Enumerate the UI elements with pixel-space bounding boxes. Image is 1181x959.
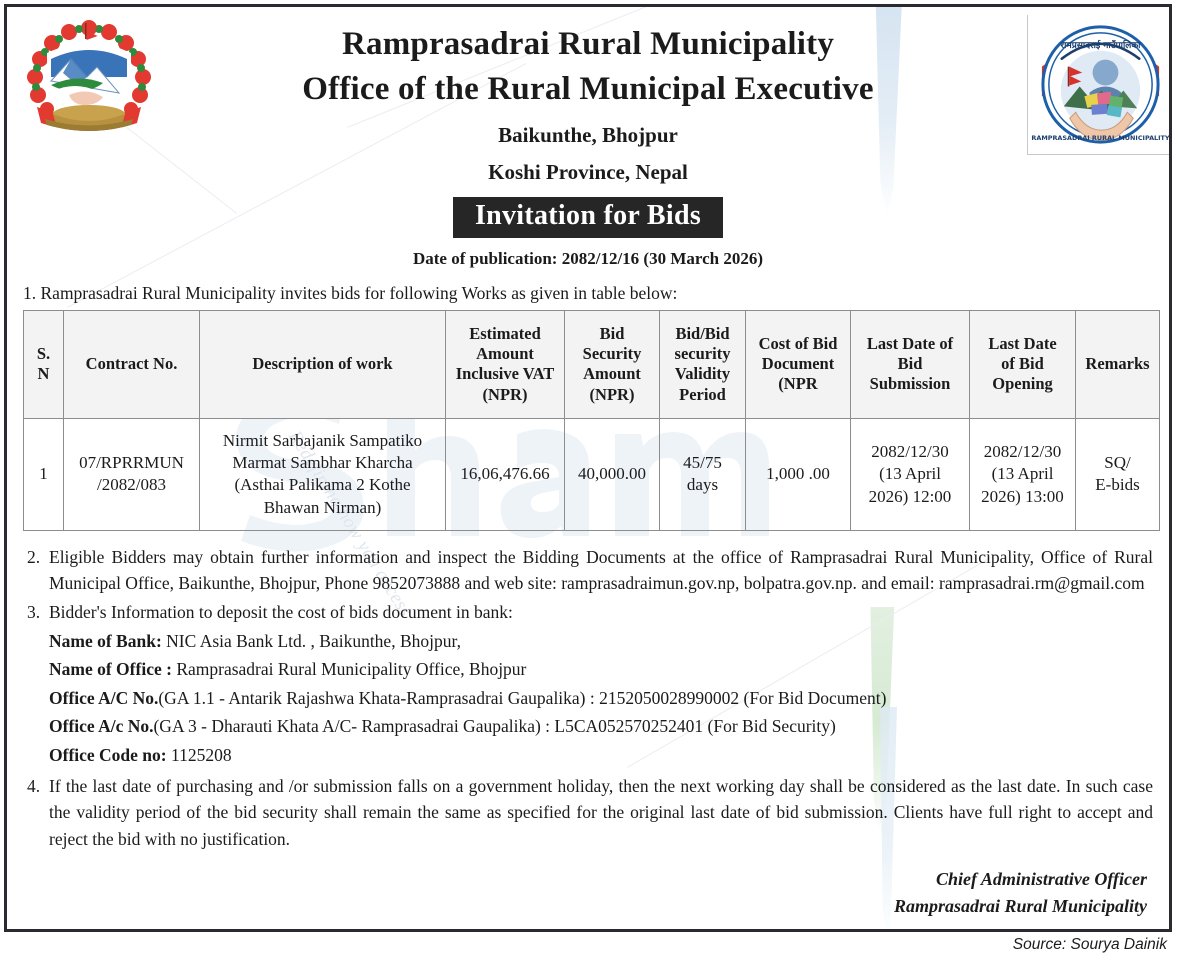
clause-3: 3. Bidder's Information to deposit the c… xyxy=(23,599,1153,769)
clause-2: 2. Eligible Bidders may obtain further i… xyxy=(23,544,1153,597)
cell-last-date-opening: 2082/12/30 (13 April 2026) 13:00 xyxy=(970,418,1076,530)
header-line: Estimated xyxy=(449,324,561,344)
cell-line: 2026) 12:00 xyxy=(855,486,965,508)
clause-4-number: 4. xyxy=(23,773,49,853)
account-1-line: Office A/C No.(GA 1.1 - Antarik Rajashwa… xyxy=(49,685,1153,712)
cell-line: 45/75 xyxy=(664,452,741,474)
cell-line: (Asthai Palikama 2 Kothe xyxy=(204,474,441,496)
svg-text:रामप्रसादराई गाउँपालिका: रामप्रसादराई गाउँपालिका xyxy=(1059,39,1141,51)
header-line: Amount xyxy=(449,344,561,364)
header-line: Bid xyxy=(854,354,966,374)
cell-line: Nirmit Sarbajanik Sampatiko xyxy=(204,430,441,452)
header-line: (NPR) xyxy=(449,385,561,405)
account-1-label: Office A/C No. xyxy=(49,688,158,708)
column-header-description: Description of work xyxy=(200,310,446,418)
cell-cost-of-bid-document: 1,000 .00 xyxy=(746,418,851,530)
office-title: Office of the Rural Municipal Executive xyxy=(7,70,1169,109)
office-code-value: 1125208 xyxy=(167,745,232,765)
nepal-emblem-icon xyxy=(23,19,155,147)
cell-line: 07/RPRRMUN xyxy=(68,452,195,474)
column-header-last-date-submission: Last Date of Bid Submission xyxy=(851,310,970,418)
column-header-remarks: Remarks xyxy=(1076,310,1160,418)
bank-name-line: Name of Bank: NIC Asia Bank Ltd. , Baiku… xyxy=(49,628,1153,655)
office-name-line: Name of Office : Ramprasadrai Rural Muni… xyxy=(49,656,1153,683)
table-header: S. N Contract No. Description of work Es… xyxy=(24,310,1160,418)
clause-3-text: Bidder's Information to deposit the cost… xyxy=(49,599,1153,626)
cell-line: E-bids xyxy=(1080,474,1155,496)
header-line: Cost of Bid xyxy=(749,334,847,354)
clauses-section: 2. Eligible Bidders may obtain further i… xyxy=(23,544,1153,853)
cell-remarks: SQ/ E-bids xyxy=(1076,418,1160,530)
header-line: Bid xyxy=(568,324,656,344)
signatory-organization: Ramprasadrai Rural Municipality xyxy=(7,893,1147,920)
cell-description: Nirmit Sarbajanik Sampatiko Marmat Sambh… xyxy=(200,418,446,530)
column-header-cost-of-bid-document: Cost of Bid Document (NPR xyxy=(746,310,851,418)
cell-line: /2082/083 xyxy=(68,474,195,496)
banner-wrapper: Invitation for Bids xyxy=(7,197,1169,238)
office-code-line: Office Code no: 1125208 xyxy=(49,742,1153,769)
bank-name-value: NIC Asia Bank Ltd. , Baikunthe, Bhojpur, xyxy=(162,631,461,651)
table-body: 1 07/RPRRMUN /2082/083 Nirmit Sarbajanik… xyxy=(24,418,1160,530)
header-line: Submission xyxy=(854,374,966,394)
clause-1-number: 1. xyxy=(23,283,36,303)
clause-3-body: Bidder's Information to deposit the cost… xyxy=(49,599,1153,769)
header-line: Period xyxy=(663,385,742,405)
header-line: Document xyxy=(749,354,847,374)
cell-last-date-submission: 2082/12/30 (13 April 2026) 12:00 xyxy=(851,418,970,530)
document-page: Redefining how you access xyxy=(4,4,1172,932)
cell-line: SQ/ xyxy=(1080,452,1155,474)
column-header-bid-security-amount: Bid Security Amount (NPR) xyxy=(565,310,660,418)
cell-line: 2026) 13:00 xyxy=(974,486,1071,508)
cell-validity-period: 45/75 days xyxy=(660,418,746,530)
clause-2-number: 2. xyxy=(23,544,49,597)
cell-line: 2082/12/30 xyxy=(855,441,965,463)
cell-bid-security-amount: 40,000.00 xyxy=(565,418,660,530)
column-header-estimated-amount: Estimated Amount Inclusive VAT (NPR) xyxy=(446,310,565,418)
header-line: Remarks xyxy=(1079,354,1156,374)
header-line: Bid/Bid xyxy=(663,324,742,344)
cell-sn: 1 xyxy=(24,418,64,530)
account-2-value: (GA 3 - Dharauti Khata A/C- Ramprasadrai… xyxy=(153,716,835,736)
header-line: Inclusive VAT xyxy=(449,364,561,384)
organization-title: Ramprasadrai Rural Municipality xyxy=(7,25,1169,64)
header-line: security xyxy=(663,344,742,364)
source-credit: Source: Sourya Dainik xyxy=(1013,936,1167,954)
cell-estimated-amount: 16,06,476.66 xyxy=(446,418,565,530)
document-header: Ramprasadrai Rural Municipality Office o… xyxy=(7,7,1169,269)
header-line: Description of work xyxy=(203,354,442,374)
bids-table-wrapper: S. N Contract No. Description of work Es… xyxy=(7,310,1169,531)
header-line: of Bid xyxy=(973,354,1072,374)
clause-4: 4. If the last date of purchasing and /o… xyxy=(23,773,1153,853)
account-2-label: Office A/c No. xyxy=(49,716,153,736)
header-line: Last Date xyxy=(973,334,1072,354)
bank-name-label: Name of Bank: xyxy=(49,631,162,651)
account-1-value: (GA 1.1 - Antarik Rajashwa Khata-Rampras… xyxy=(158,688,886,708)
clause-4-text: If the last date of purchasing and /or s… xyxy=(49,773,1153,853)
header-line: Contract No. xyxy=(67,354,196,374)
signature-block: Chief Administrative Officer Ramprasadra… xyxy=(7,866,1147,920)
cell-line: Marmat Sambhar Kharcha xyxy=(204,452,441,474)
clause-1: 1. Ramprasadrai Rural Municipality invit… xyxy=(23,283,1169,304)
column-header-sn: S. N xyxy=(24,310,64,418)
column-header-last-date-opening: Last Date of Bid Opening xyxy=(970,310,1076,418)
header-line: Amount xyxy=(568,364,656,384)
header-line: Security xyxy=(568,344,656,364)
header-line: N xyxy=(27,364,60,384)
header-line: (NPR xyxy=(749,374,847,394)
invitation-banner: Invitation for Bids xyxy=(453,197,723,238)
header-line: Validity xyxy=(663,364,742,384)
signatory-title: Chief Administrative Officer xyxy=(7,866,1147,893)
cell-line: (13 April xyxy=(855,463,965,485)
cell-contract-no: 07/RPRRMUN /2082/083 xyxy=(64,418,200,530)
municipality-seal-icon: रामप्रसादराई गाउँपालिका xyxy=(1027,15,1172,155)
cell-line: days xyxy=(664,474,741,496)
header-line: S. xyxy=(27,344,60,364)
cell-line: Bhawan Nirman) xyxy=(204,497,441,519)
office-code-label: Office Code no: xyxy=(49,745,167,765)
publication-date: Date of publication: 2082/12/16 (30 Marc… xyxy=(7,249,1169,269)
account-2-line: Office A/c No.(GA 3 - Dharauti Khata A/C… xyxy=(49,713,1153,740)
header-line: Last Date of xyxy=(854,334,966,354)
table-row: 1 07/RPRRMUN /2082/083 Nirmit Sarbajanik… xyxy=(24,418,1160,530)
office-name-value: Ramprasadrai Rural Municipality Office, … xyxy=(172,659,526,679)
office-name-label: Name of Office : xyxy=(49,659,172,679)
header-line: Opening xyxy=(973,374,1072,394)
bids-table: S. N Contract No. Description of work Es… xyxy=(23,310,1160,531)
cell-line: (13 April xyxy=(974,463,1071,485)
clause-1-text: Ramprasadrai Rural Municipality invites … xyxy=(41,283,678,303)
address-line: Baikunthe, Bhojpur xyxy=(7,123,1169,148)
column-header-contract-no: Contract No. xyxy=(64,310,200,418)
clause-3-number: 3. xyxy=(23,599,49,769)
table-header-row: S. N Contract No. Description of work Es… xyxy=(24,310,1160,418)
header-line: (NPR) xyxy=(568,385,656,405)
province-line: Koshi Province, Nepal xyxy=(7,160,1169,185)
column-header-validity-period: Bid/Bid security Validity Period xyxy=(660,310,746,418)
clause-2-text: Eligible Bidders may obtain further info… xyxy=(49,544,1153,597)
cell-line: 2082/12/30 xyxy=(974,441,1071,463)
svg-text:RAMPRASADRAI RURAL MUNICIPALIT: RAMPRASADRAI RURAL MUNICIPALITY xyxy=(1031,134,1170,142)
